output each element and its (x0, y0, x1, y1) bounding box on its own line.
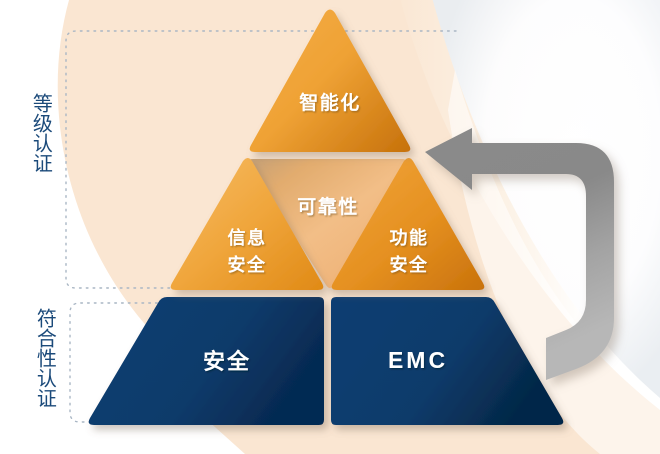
side-label-grade-certification: 等级认证 (30, 93, 50, 173)
block-functional-safety-label-1: 功能 (390, 227, 429, 248)
block-intelligence-label: 智能化 (299, 91, 361, 114)
block-functional-safety-label-2: 安全 (390, 254, 429, 275)
block-safety-label: 安全 (203, 349, 251, 374)
block-emc-label: EMC (388, 347, 448, 373)
diagram-canvas: 安全 EMC 可靠性 信息 安全 功能 (0, 0, 660, 454)
block-reliability-label: 可靠性 (297, 195, 359, 218)
block-information-security-label-2: 安全 (228, 254, 267, 275)
block-information-security-label-1: 信息 (228, 227, 267, 248)
diagram-svg: 安全 EMC 可靠性 信息 安全 功能 (0, 0, 660, 454)
side-label-compliance-certification: 符合性认证 (34, 308, 54, 408)
